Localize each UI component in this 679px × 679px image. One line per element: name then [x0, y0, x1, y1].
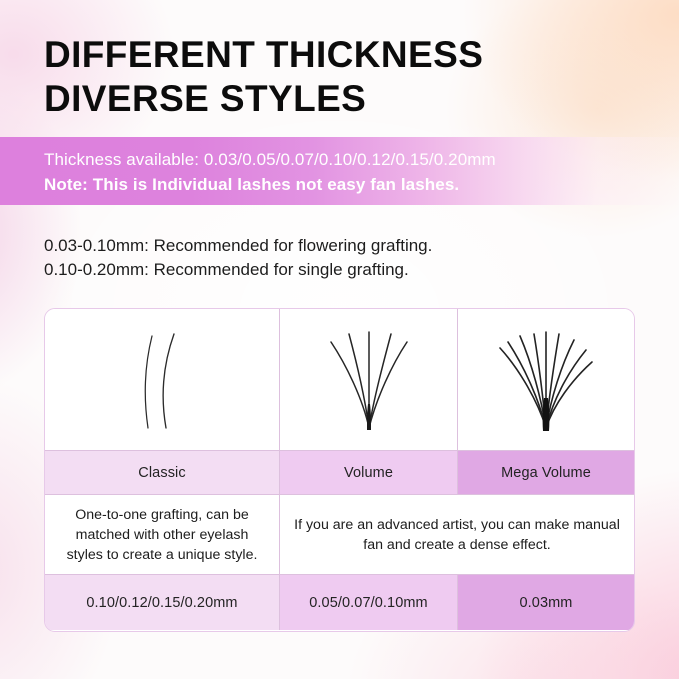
- style-label-classic: Classic: [138, 465, 185, 481]
- banner-note-text: Note: This is Individual lashes not easy…: [44, 175, 459, 195]
- volume-illustration-cell: [279, 309, 457, 450]
- style-label-mega-volume: Mega Volume: [501, 465, 591, 481]
- description-classic: One-to-one grafting, can be matched with…: [59, 505, 265, 565]
- mega-volume-lash-fan-icon: [486, 324, 606, 436]
- recommendation-text: 0.03-0.10mm: Recommended for flowering g…: [44, 234, 432, 282]
- style-label-volume: Volume: [344, 465, 393, 481]
- thickness-mega-volume: 0.03mm: [520, 595, 573, 611]
- style-label-cell-volume: Volume: [279, 451, 457, 494]
- lash-style-comparison-table: Classic Volume Mega Volume One-to-one gr…: [44, 308, 635, 632]
- table-row-descriptions: One-to-one grafting, can be matched with…: [45, 494, 634, 574]
- recommendation-line-1: 0.03-0.10mm: Recommended for flowering g…: [44, 234, 432, 258]
- thickness-cell-classic: 0.10/0.12/0.15/0.20mm: [45, 575, 279, 630]
- page-title: DIFFERENT THICKNESS DIVERSE STYLES: [44, 33, 644, 121]
- thickness-cell-mega-volume: 0.03mm: [457, 575, 634, 630]
- description-volume-mega: If you are an advanced artist, you can m…: [294, 515, 620, 555]
- thickness-cell-volume: 0.05/0.07/0.10mm: [279, 575, 457, 630]
- table-row-style-labels: Classic Volume Mega Volume: [45, 450, 634, 494]
- thickness-classic: 0.10/0.12/0.15/0.20mm: [86, 595, 237, 611]
- recommendation-line-2: 0.10-0.20mm: Recommended for single graf…: [44, 258, 432, 282]
- thickness-available-text: Thickness available: 0.03/0.05/0.07/0.10…: [44, 150, 496, 170]
- page-title-line-1: DIFFERENT THICKNESS: [44, 33, 644, 77]
- classic-illustration-cell: [45, 309, 279, 450]
- page-title-line-2: DIVERSE STYLES: [44, 77, 644, 121]
- product-infographic: DIFFERENT THICKNESS DIVERSE STYLES Thick…: [0, 0, 679, 679]
- volume-lash-fan-icon: [317, 324, 421, 436]
- description-cell-classic: One-to-one grafting, can be matched with…: [45, 495, 279, 574]
- style-label-cell-classic: Classic: [45, 451, 279, 494]
- description-cell-volume-mega: If you are an advanced artist, you can m…: [279, 495, 634, 574]
- style-label-cell-mega-volume: Mega Volume: [457, 451, 634, 494]
- table-row-illustrations: [45, 309, 634, 450]
- thickness-banner: Thickness available: 0.03/0.05/0.07/0.10…: [0, 137, 679, 205]
- table-row-thickness: 0.10/0.12/0.15/0.20mm 0.05/0.07/0.10mm 0…: [45, 574, 634, 630]
- classic-lash-icon: [122, 324, 202, 436]
- mega-volume-illustration-cell: [457, 309, 634, 450]
- thickness-volume: 0.05/0.07/0.10mm: [309, 595, 427, 611]
